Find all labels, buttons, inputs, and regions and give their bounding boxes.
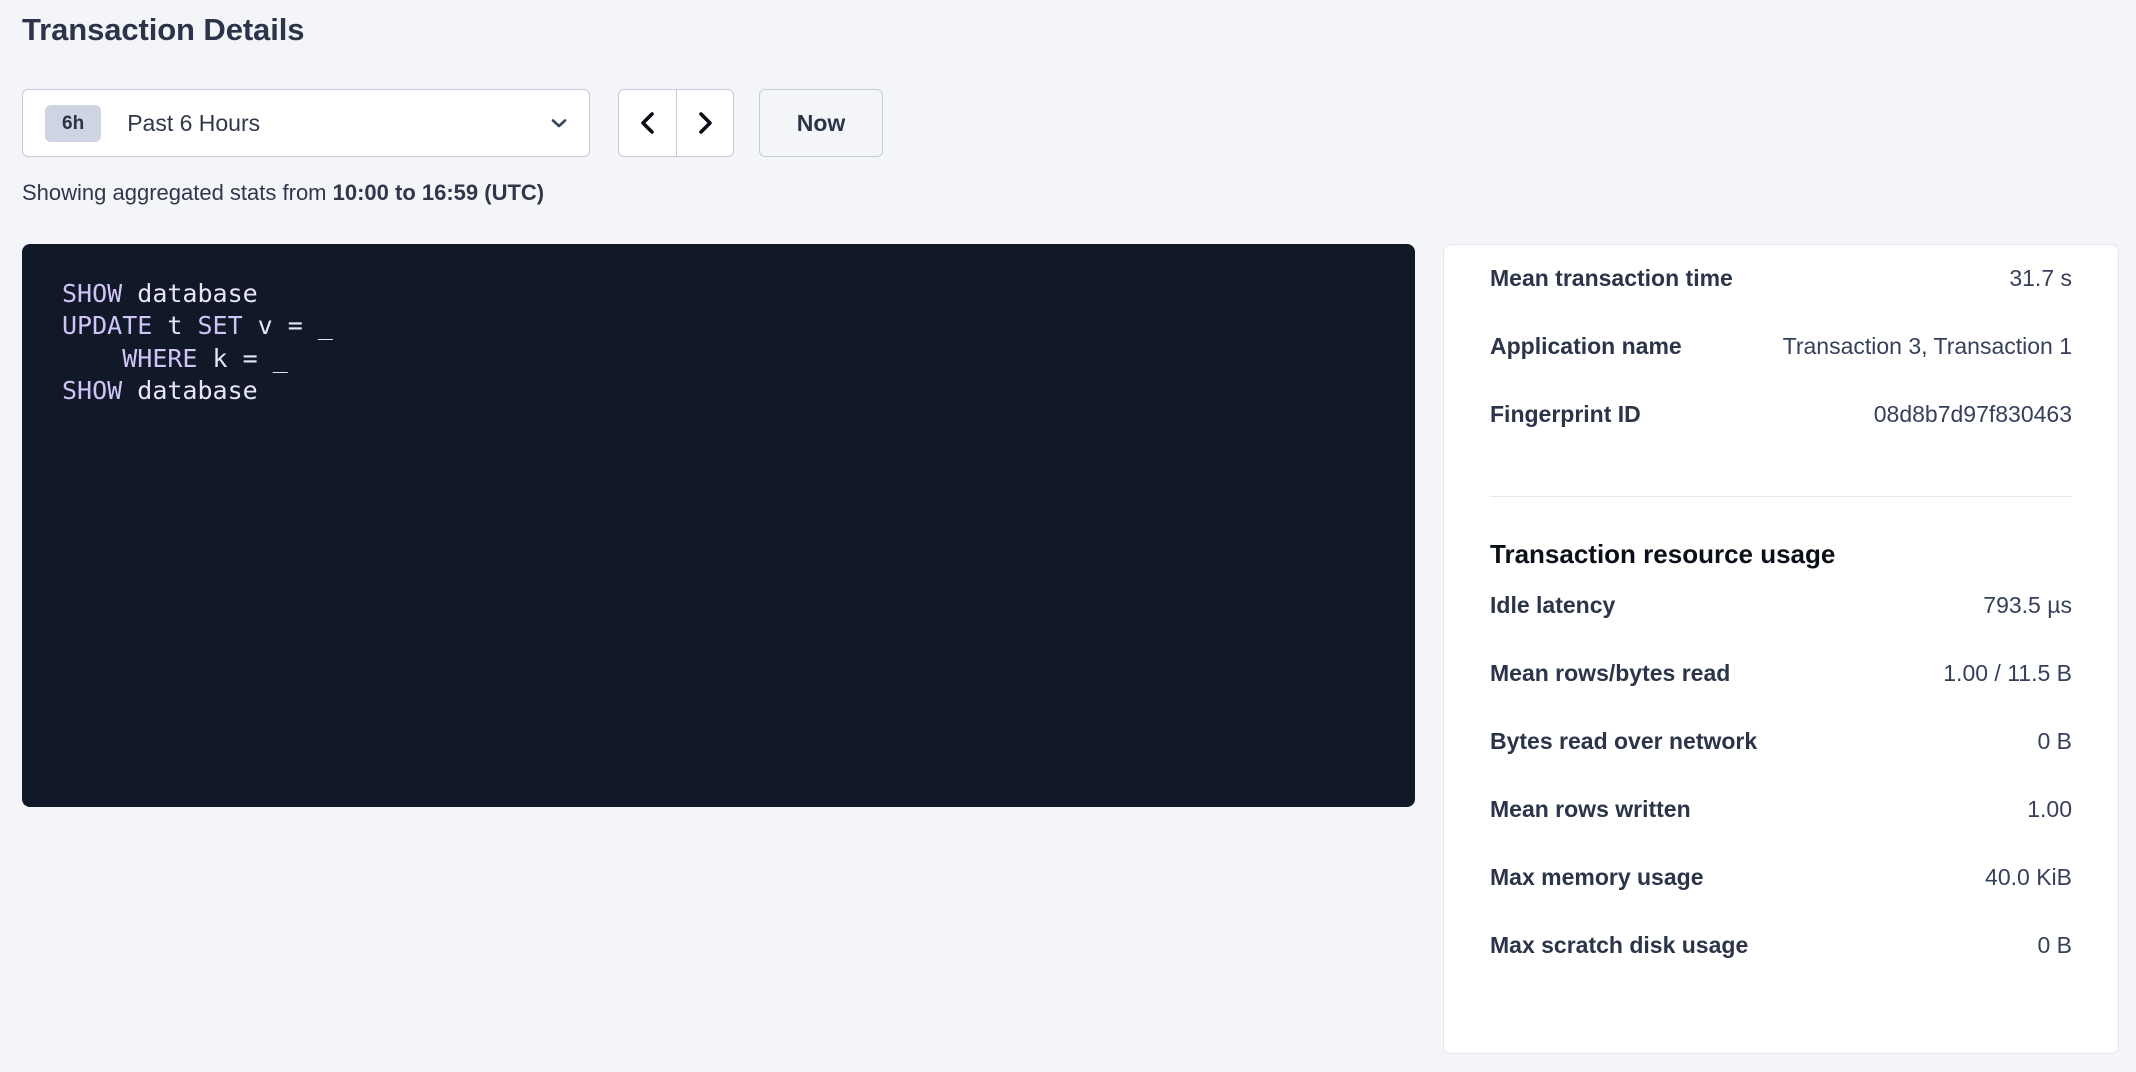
sql-token: k = _ (197, 344, 287, 373)
sql-statement-block[interactable]: SHOW database UPDATE t SET v = _ WHERE k… (22, 244, 1415, 807)
overview-stat-row-label: Mean transaction time (1490, 265, 1733, 292)
resource-stat-row: Max memory usage40.0 KiB (1490, 864, 2072, 932)
previous-period-button[interactable] (618, 89, 676, 157)
sql-token (62, 344, 122, 373)
overview-stat-row: Fingerprint ID08d8b7d97f830463 (1490, 401, 2072, 469)
resource-stat-row-label: Mean rows/bytes read (1490, 660, 1730, 687)
sql-token: SHOW (62, 376, 122, 405)
overview-stat-row-label: Fingerprint ID (1490, 401, 1641, 428)
resource-stat-row-value: 0 B (2037, 932, 2072, 959)
overview-stat-row-value: Transaction 3, Transaction 1 (1783, 333, 2072, 360)
resource-usage-group: Idle latency793.5 µsMean rows/bytes read… (1490, 592, 2072, 1000)
resource-stat-row-label: Bytes read over network (1490, 728, 1757, 755)
time-range-label: Past 6 Hours (127, 110, 549, 137)
resource-stat-row-value: 40.0 KiB (1985, 864, 2072, 891)
resource-stat-row-value: 793.5 µs (1983, 592, 2072, 619)
transaction-details-page: Transaction Details 6h Past 6 Hours (0, 0, 2136, 1072)
sql-token (122, 376, 137, 405)
overview-stat-row-value: 31.7 s (2009, 265, 2072, 292)
sql-token (122, 279, 137, 308)
overview-stats-group: Mean transaction time31.7 sApplication n… (1490, 245, 2072, 469)
sql-token: UPDATE (62, 311, 152, 340)
resource-stat-row-label: Max memory usage (1490, 864, 1703, 891)
sql-token: SHOW (62, 279, 122, 308)
time-range-select[interactable]: 6h Past 6 Hours (22, 89, 590, 157)
resource-usage-title: Transaction resource usage (1490, 539, 2072, 570)
resource-stat-row-value: 1.00 (2027, 796, 2072, 823)
time-range-toolbar: 6h Past 6 Hours (22, 89, 883, 157)
aggregation-note-range: 10:00 to 16:59 (UTC) (333, 180, 545, 205)
transaction-stats-card: Mean transaction time31.7 sApplication n… (1443, 244, 2119, 1054)
sql-token: WHERE (122, 344, 197, 373)
resource-stat-row-label: Max scratch disk usage (1490, 932, 1748, 959)
sql-token: SET (197, 311, 242, 340)
sql-statement-text: SHOW database UPDATE t SET v = _ WHERE k… (62, 278, 1375, 407)
overview-stat-row-label: Application name (1490, 333, 1682, 360)
time-nav-group (618, 89, 734, 157)
next-period-button[interactable] (676, 89, 734, 157)
overview-stat-row: Application nameTransaction 3, Transacti… (1490, 333, 2072, 401)
resource-stat-row-label: Idle latency (1490, 592, 1615, 619)
resource-stat-row: Idle latency793.5 µs (1490, 592, 2072, 660)
sql-token: database (137, 376, 257, 405)
chevron-left-icon (635, 108, 661, 138)
resource-stat-row-value: 0 B (2037, 728, 2072, 755)
overview-stat-row: Mean transaction time31.7 s (1490, 265, 2072, 333)
section-divider (1490, 496, 2072, 497)
now-button[interactable]: Now (759, 89, 883, 157)
chevron-right-icon (692, 108, 718, 138)
resource-stat-row: Mean rows/bytes read1.00 / 11.5 B (1490, 660, 2072, 728)
page-title: Transaction Details (22, 12, 304, 48)
aggregation-note-prefix: Showing aggregated stats from (22, 180, 333, 205)
sql-token: database (137, 279, 257, 308)
time-range-badge: 6h (45, 105, 101, 142)
chevron-down-icon (549, 113, 569, 133)
resource-stat-row-label: Mean rows written (1490, 796, 1691, 823)
resource-stat-row: Mean rows written1.00 (1490, 796, 2072, 864)
sql-token: v = _ (243, 311, 333, 340)
resource-stat-row: Max scratch disk usage0 B (1490, 932, 2072, 1000)
resource-stat-row-value: 1.00 / 11.5 B (1943, 660, 2072, 687)
resource-stat-row: Bytes read over network0 B (1490, 728, 2072, 796)
sql-token: t (152, 311, 197, 340)
aggregation-note: Showing aggregated stats from 10:00 to 1… (22, 180, 544, 206)
overview-stat-row-value: 08d8b7d97f830463 (1874, 401, 2072, 428)
